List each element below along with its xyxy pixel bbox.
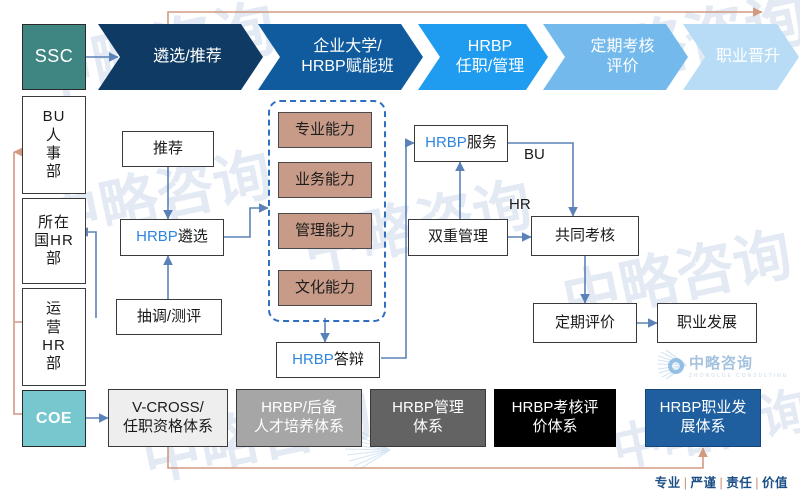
flow-dual-management-box[interactable]: 双重管理 <box>408 219 508 256</box>
system-box-3[interactable]: HRBP管理 体系 <box>370 389 486 447</box>
flow-recommend-box[interactable]: 推荐 <box>122 131 214 167</box>
pipeline-step-5[interactable]: 职业晋升 <box>683 24 799 90</box>
org-ssc-box[interactable]: SSC <box>22 24 86 90</box>
org-host-country-hr-label: 所在 国HR 部 <box>34 214 74 269</box>
flow-dual-management-label: 双重管理 <box>428 228 488 246</box>
system-box-5[interactable]: HRBP职业发 展体系 <box>645 389 761 447</box>
footer-value-3: 责任 <box>726 476 752 490</box>
flow-hrbp-defense-box[interactable]: HRBP答辩 <box>276 342 380 378</box>
pipeline-step-1[interactable]: 遴选/推荐 <box>98 24 263 90</box>
arrow-top-progression <box>168 12 762 24</box>
capability-item-3-label: 管理能力 <box>295 222 355 240</box>
diagram-canvas: 中略咨询 中略咨询 中略咨询 中略咨询 中略咨询 中略咨询 中略咨询 中略咨询 … <box>0 0 800 501</box>
arrow-select-to-capabilities <box>224 208 268 237</box>
flow-hrbp-select-prefix: HRBP <box>136 228 178 245</box>
pipeline-step-5-label: 职业晋升 <box>702 47 780 67</box>
footer-separator: | <box>719 476 723 490</box>
edge-label-hr: HR <box>509 196 531 213</box>
flow-hrbp-select-suffix: 遴选 <box>178 228 208 245</box>
flow-transfer-assess-box[interactable]: 抽调/测评 <box>116 299 222 335</box>
flow-transfer-assess-label: 抽调/测评 <box>137 308 201 326</box>
org-coe-box[interactable]: COE <box>22 390 86 447</box>
flow-hrbp-service-prefix: HRBP <box>425 134 467 151</box>
flow-periodic-evaluation-box[interactable]: 定期评价 <box>533 303 637 343</box>
pipeline-step-3-label: HRBP 任职/管理 <box>442 37 524 77</box>
footer-value-4: 价值 <box>762 476 788 490</box>
flow-career-development-box[interactable]: 职业发展 <box>657 303 757 343</box>
capability-item-1[interactable]: 专业能力 <box>278 112 372 148</box>
flow-career-development-label: 职业发展 <box>677 314 737 332</box>
capability-item-4[interactable]: 文化能力 <box>278 270 372 306</box>
footer-separator: | <box>755 476 759 490</box>
arrow-vcross-to-career-system <box>168 447 703 468</box>
brand-subtitle: ZHONGLUE CONSULTING <box>689 373 789 379</box>
flow-joint-assessment-label: 共同考核 <box>555 227 615 245</box>
system-box-1[interactable]: V-CROSS/ 任职资格体系 <box>108 389 228 447</box>
org-operations-hr-label: 运 营 HR 部 <box>42 300 66 373</box>
capability-item-2[interactable]: 业务能力 <box>278 162 372 198</box>
org-host-country-hr-box[interactable]: 所在 国HR 部 <box>22 198 86 284</box>
org-bu-hr-box[interactable]: BU 人 事 部 <box>22 96 86 194</box>
flow-hrbp-select-box[interactable]: HRBP遴选 <box>120 219 224 256</box>
flow-joint-assessment-box[interactable]: 共同考核 <box>531 216 639 256</box>
system-box-2[interactable]: HRBP/后备 人才培养体系 <box>236 389 362 447</box>
brand-burst-icon <box>652 348 688 382</box>
flow-hrbp-defense-suffix: 答辩 <box>334 351 364 368</box>
system-box-4-label: HRBP考核评 价体系 <box>512 399 599 437</box>
pipeline-step-1-label: 遴选/推荐 <box>139 47 221 67</box>
brand-name: 中略咨询 <box>689 355 753 372</box>
flow-recommend-label: 推荐 <box>153 140 183 158</box>
org-bu-hr-label: BU 人 事 部 <box>43 108 66 181</box>
system-box-1-label: V-CROSS/ 任职资格体系 <box>123 399 213 437</box>
capability-item-1-label: 专业能力 <box>295 121 355 139</box>
capability-item-2-label: 业务能力 <box>295 171 355 189</box>
pipeline-step-2-label: 企业大学/ HRBP赋能班 <box>287 37 393 77</box>
pipeline-step-2[interactable]: 企业大学/ HRBP赋能班 <box>258 24 423 90</box>
pipeline-step-4[interactable]: 定期考核 评价 <box>543 24 688 90</box>
footer-values: 专业|严谨|责任|价值 <box>655 472 788 491</box>
footer-value-1: 专业 <box>655 476 681 490</box>
pipeline-step-4-label: 定期考核 评价 <box>576 37 654 77</box>
flow-periodic-evaluation-label: 定期评价 <box>555 314 615 332</box>
edge-label-bu: BU <box>524 146 545 163</box>
flow-hrbp-service-box[interactable]: HRBP服务 <box>414 125 508 162</box>
pipeline-step-3[interactable]: HRBP 任职/管理 <box>418 24 548 90</box>
brand-watermark-logo: 中略咨询 ZHONGLUE CONSULTING <box>668 352 789 379</box>
capability-item-3[interactable]: 管理能力 <box>278 213 372 249</box>
org-operations-hr-box[interactable]: 运 营 HR 部 <box>22 288 86 386</box>
footer-separator: | <box>684 476 688 490</box>
org-coe-label: COE <box>36 409 72 429</box>
system-box-2-label: HRBP/后备 人才培养体系 <box>254 399 344 437</box>
system-box-5-label: HRBP职业发 展体系 <box>660 399 747 437</box>
system-box-3-label: HRBP管理 体系 <box>392 399 464 437</box>
flow-hrbp-service-suffix: 服务 <box>467 134 497 151</box>
flow-hrbp-defense-prefix: HRBP <box>292 351 334 368</box>
capability-item-4-label: 文化能力 <box>295 279 355 297</box>
system-box-4[interactable]: HRBP考核评 价体系 <box>494 389 616 447</box>
footer-value-2: 严谨 <box>690 476 716 490</box>
org-ssc-label: SSC <box>35 46 74 68</box>
brand-ring-icon <box>668 358 684 374</box>
